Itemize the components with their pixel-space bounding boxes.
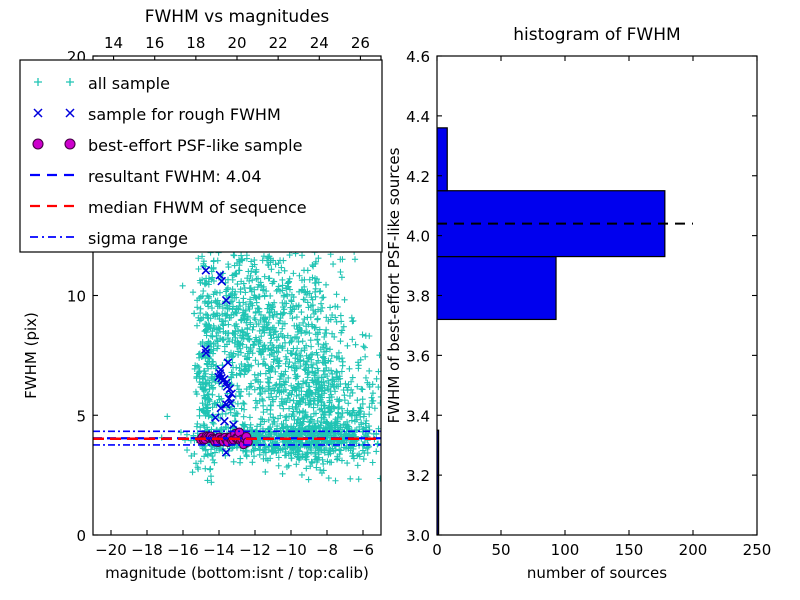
left-xtick-label: −14: [203, 541, 235, 559]
left-ytick-label: 10: [67, 288, 86, 306]
left-xtick-label: −16: [167, 541, 199, 559]
legend-frame: [20, 60, 382, 252]
left-panel-ylabel: FWHM (pix): [22, 312, 40, 399]
right-xtick-label: 100: [551, 541, 580, 559]
right-ytick-label: 4.0: [406, 228, 430, 246]
right-ytick-label: 3.4: [406, 407, 430, 425]
right-xtick-label: 50: [491, 541, 510, 559]
right-xtick-label: 150: [615, 541, 644, 559]
right-ytick-label: 3.2: [406, 467, 430, 485]
right-xtick-label: 250: [743, 541, 772, 559]
left-top-xtick-label: 16: [145, 34, 164, 52]
left-panel-title: FWHM vs magnitudes: [145, 7, 330, 27]
left-xtick-label: −8: [316, 541, 338, 559]
legend-entry-label: sigma range: [88, 229, 188, 248]
right-panel-ylabel: FWHM of best-effort PSF-like sources: [385, 147, 403, 423]
histogram-bars: [437, 128, 665, 535]
left-xtick-label: −12: [239, 541, 271, 559]
figure-canvas: FWHM vs magnitudesmagnitude (bottom:isnt…: [0, 0, 800, 600]
left-xtick-label: −10: [275, 541, 307, 559]
left-xtick-label: −6: [352, 541, 374, 559]
right-ytick-label: 4.6: [406, 48, 430, 66]
right-panel-title: histogram of FWHM: [513, 25, 680, 45]
left-top-xtick-label: 18: [186, 34, 205, 52]
right-ytick-label: 3.0: [406, 527, 430, 545]
right-xtick-label: 200: [679, 541, 708, 559]
legend-entry-label: sample for rough FWHM: [88, 105, 281, 124]
legend: all samplesample for rough FWHMbest-effo…: [20, 60, 382, 252]
left-xtick-label: −20: [95, 541, 127, 559]
left-top-xtick-label: 26: [351, 34, 370, 52]
left-panel-xlabel: magnitude (bottom:isnt / top:calib): [105, 564, 369, 582]
left-top-xtick-label: 14: [104, 34, 123, 52]
right-panel-histogram: histogram of FWHMnumber of sourcesFWHM o…: [385, 25, 771, 582]
histogram-bar: [437, 257, 556, 320]
left-top-xtick-label: 20: [227, 34, 246, 52]
legend-entry-label: all sample: [88, 74, 170, 93]
legend-entry-label: best-effort PSF-like sample: [88, 136, 302, 155]
left-top-xtick-label: 22: [269, 34, 288, 52]
right-ytick-label: 4.4: [406, 108, 430, 126]
legend-entry-label: median FHWM of sequence: [88, 198, 307, 217]
legend-circle-icon: [33, 139, 43, 149]
right-ytick-label: 4.2: [406, 168, 430, 186]
left-ytick-label: 5: [76, 407, 86, 425]
left-top-xtick-label: 24: [310, 34, 329, 52]
right-panel-xlabel: number of sources: [527, 564, 667, 582]
left-ytick-label: 0: [76, 527, 86, 545]
left-xtick-label: −18: [131, 541, 163, 559]
histogram-bar: [437, 128, 447, 191]
right-xtick-label: 0: [432, 541, 442, 559]
right-ytick-label: 3.6: [406, 347, 430, 365]
legend-circle-icon: [65, 139, 75, 149]
right-ytick-label: 3.8: [406, 288, 430, 306]
legend-entry-label: resultant FWHM: 4.04: [88, 167, 262, 186]
